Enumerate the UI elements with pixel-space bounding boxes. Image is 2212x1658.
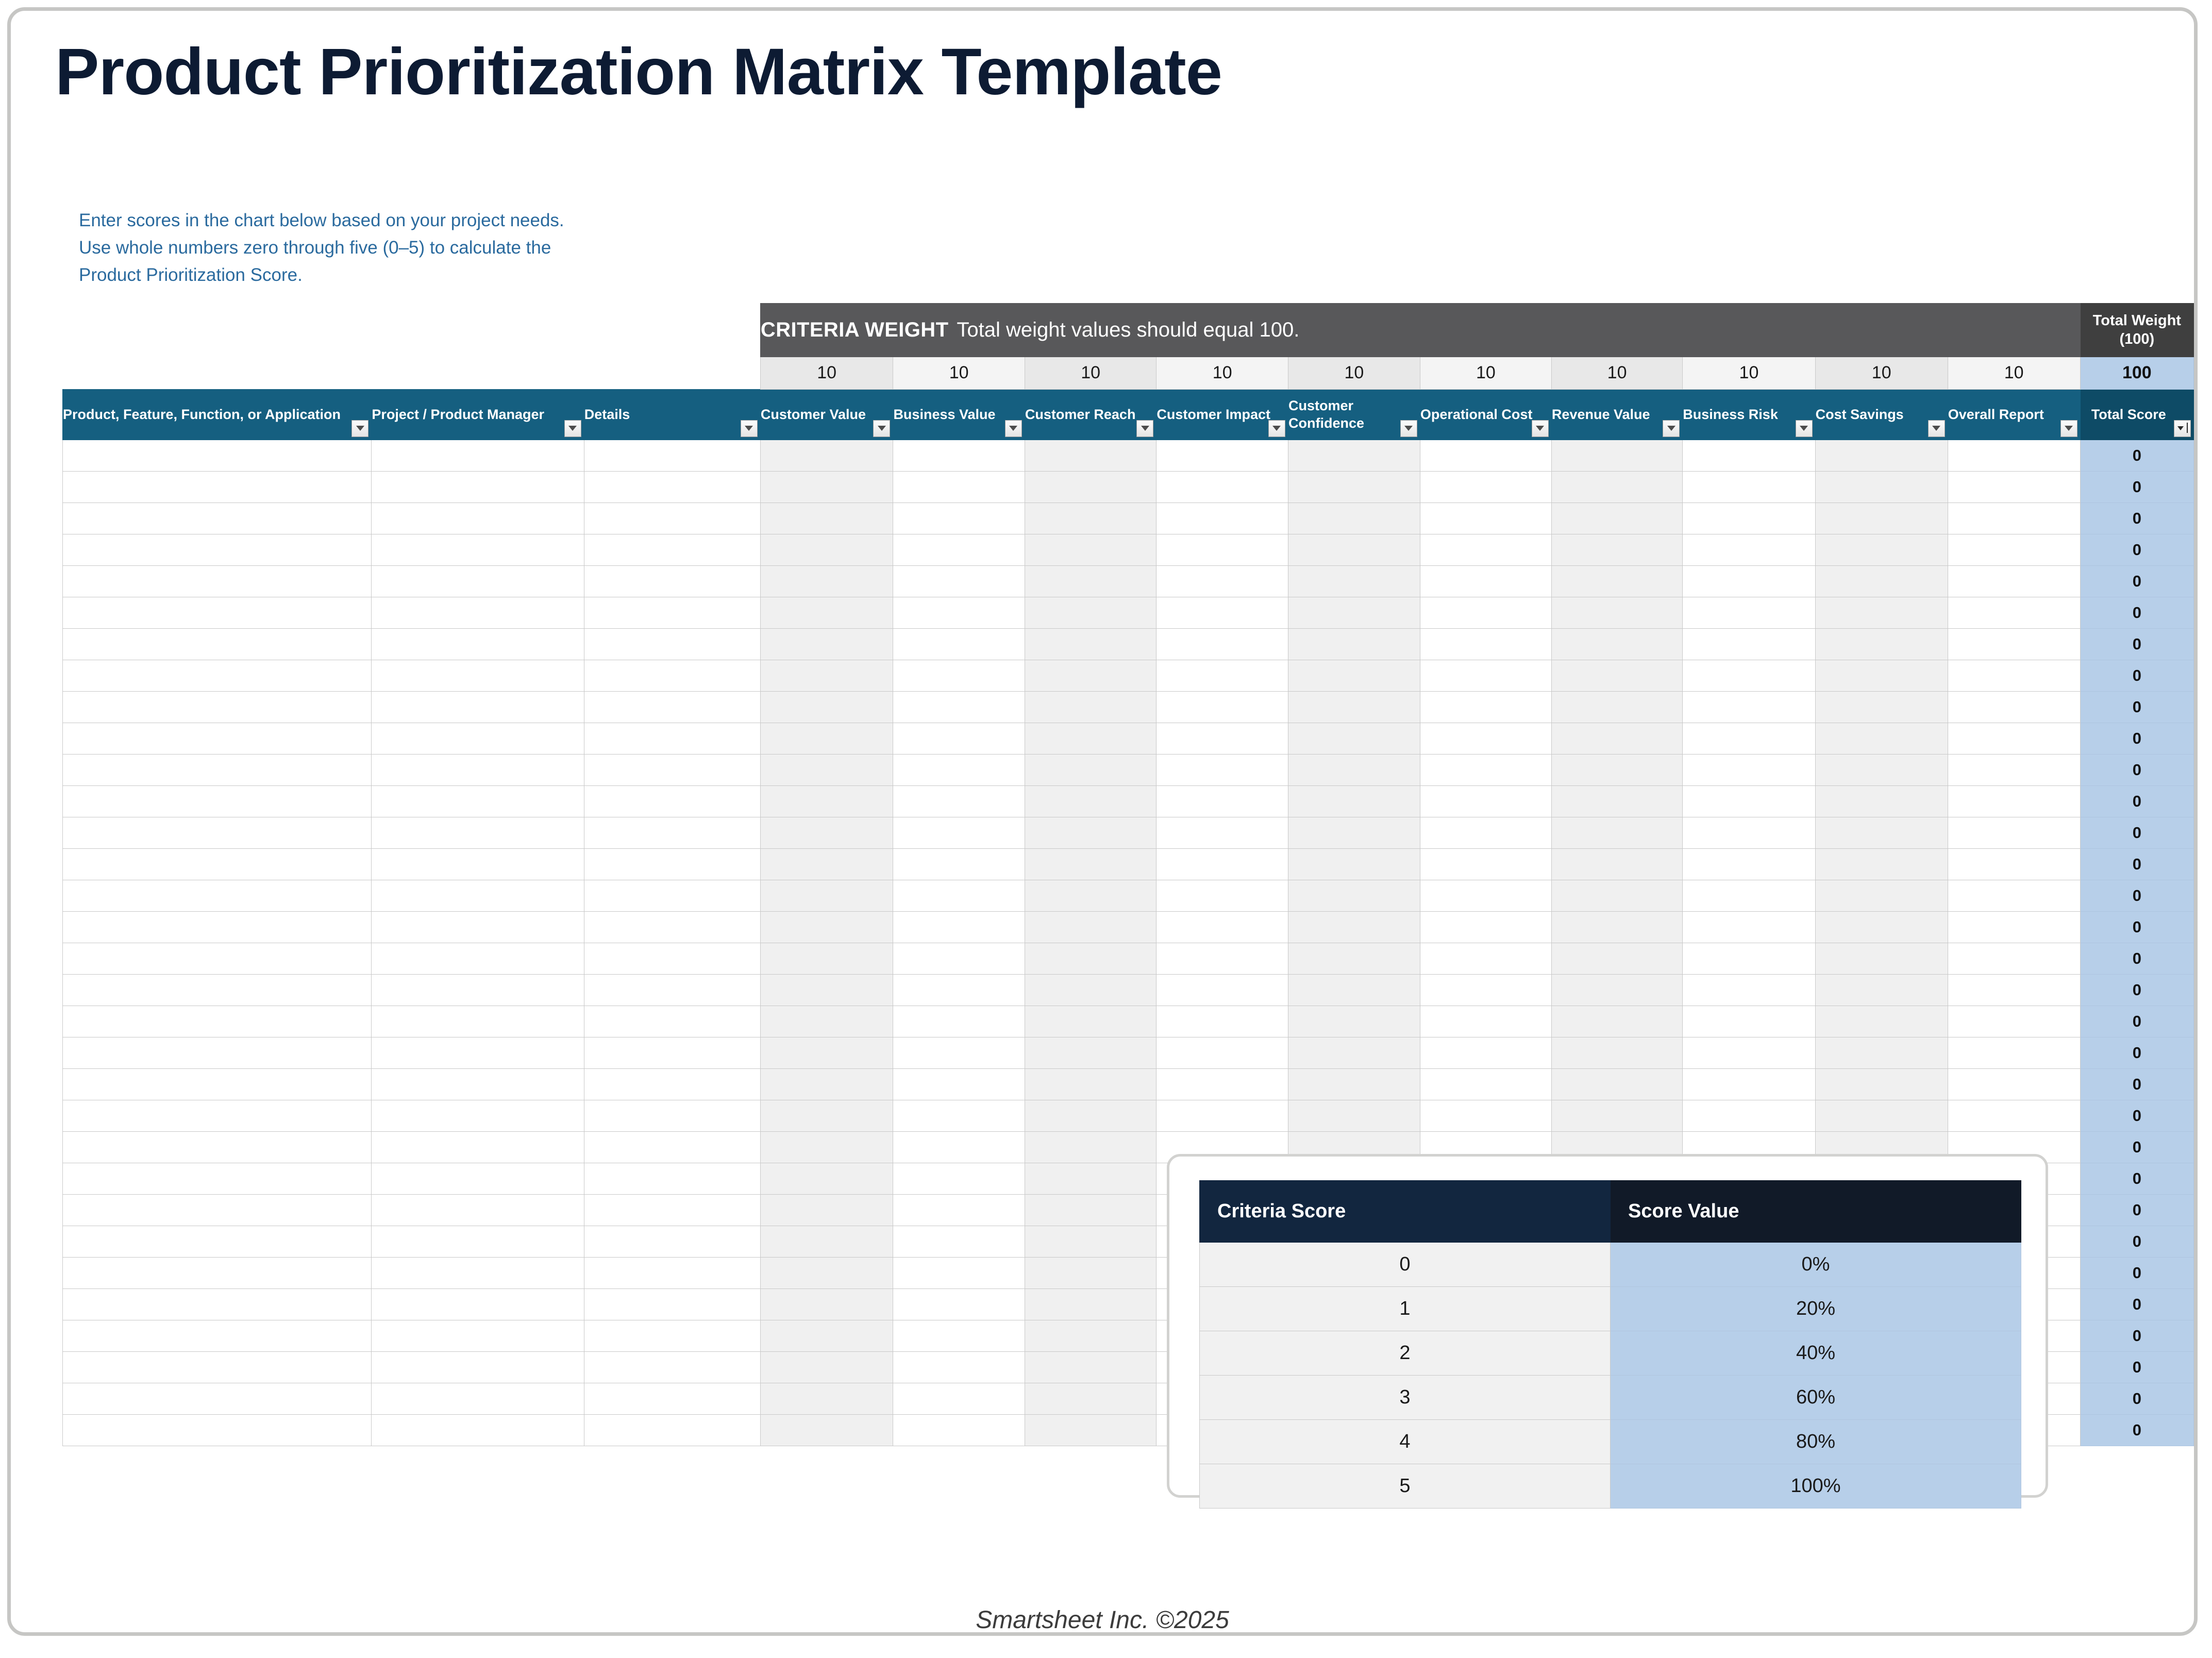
cell-project-product-manager[interactable] (372, 1257, 584, 1288)
cell-business-value[interactable] (893, 503, 1025, 534)
cell-overall-report[interactable] (1948, 817, 2080, 848)
cell-details[interactable] (584, 1320, 760, 1351)
cell-operational-cost[interactable] (1420, 817, 1551, 848)
cell-customer-confidence[interactable] (1288, 597, 1420, 628)
cell-revenue-value[interactable] (1551, 440, 1682, 471)
column-header-operational-cost[interactable]: Operational Cost (1420, 389, 1551, 440)
filter-dropdown-icon[interactable] (1928, 420, 1945, 437)
cell-overall-report[interactable] (1948, 848, 2080, 880)
cell-product-feature-function-or-application[interactable] (63, 1351, 372, 1383)
cell-business-risk[interactable] (1683, 880, 1815, 911)
cell-customer-impact[interactable] (1157, 660, 1288, 691)
cell-customer-value[interactable] (760, 754, 893, 785)
cell-business-risk[interactable] (1683, 628, 1815, 660)
cell-customer-reach[interactable] (1025, 911, 1157, 943)
cell-customer-impact[interactable] (1157, 911, 1288, 943)
cell-business-risk[interactable] (1683, 1068, 1815, 1100)
cell-product-feature-function-or-application[interactable] (63, 691, 372, 723)
cell-customer-reach[interactable] (1025, 1194, 1157, 1226)
weight-input-cost-savings[interactable]: 10 (1815, 357, 1948, 390)
cell-customer-value[interactable] (760, 565, 893, 597)
cell-customer-reach[interactable] (1025, 691, 1157, 723)
cell-customer-value[interactable] (760, 597, 893, 628)
cell-cost-savings[interactable] (1815, 660, 1948, 691)
cell-business-risk[interactable] (1683, 1037, 1815, 1068)
cell-details[interactable] (584, 1257, 760, 1288)
cell-customer-reach[interactable] (1025, 660, 1157, 691)
cell-cost-savings[interactable] (1815, 565, 1948, 597)
cell-customer-value[interactable] (760, 1257, 893, 1288)
cell-project-product-manager[interactable] (372, 1194, 584, 1226)
cell-overall-report[interactable] (1948, 754, 2080, 785)
cell-revenue-value[interactable] (1551, 628, 1682, 660)
cell-customer-impact[interactable] (1157, 440, 1288, 471)
cell-customer-impact[interactable] (1157, 785, 1288, 817)
cell-customer-reach[interactable] (1025, 1068, 1157, 1100)
cell-details[interactable] (584, 1414, 760, 1446)
cell-business-value[interactable] (893, 1351, 1025, 1383)
cell-business-value[interactable] (893, 660, 1025, 691)
cell-overall-report[interactable] (1948, 628, 2080, 660)
filter-dropdown-icon[interactable] (1268, 420, 1285, 437)
weight-input-revenue-value[interactable]: 10 (1551, 357, 1682, 390)
column-header-customer-confidence[interactable]: Customer Confidence (1288, 389, 1420, 440)
cell-overall-report[interactable] (1948, 471, 2080, 503)
cell-revenue-value[interactable] (1551, 691, 1682, 723)
cell-business-value[interactable] (893, 534, 1025, 565)
cell-project-product-manager[interactable] (372, 1414, 584, 1446)
cell-product-feature-function-or-application[interactable] (63, 911, 372, 943)
cell-project-product-manager[interactable] (372, 785, 584, 817)
cell-business-risk[interactable] (1683, 691, 1815, 723)
cell-cost-savings[interactable] (1815, 943, 1948, 974)
cell-operational-cost[interactable] (1420, 471, 1551, 503)
cell-details[interactable] (584, 1288, 760, 1320)
cell-operational-cost[interactable] (1420, 785, 1551, 817)
cell-business-value[interactable] (893, 691, 1025, 723)
cell-operational-cost[interactable] (1420, 1037, 1551, 1068)
cell-customer-value[interactable] (760, 628, 893, 660)
cell-operational-cost[interactable] (1420, 1068, 1551, 1100)
cell-project-product-manager[interactable] (372, 660, 584, 691)
cell-project-product-manager[interactable] (372, 597, 584, 628)
cell-business-value[interactable] (893, 1383, 1025, 1414)
cell-operational-cost[interactable] (1420, 1100, 1551, 1131)
cell-customer-confidence[interactable] (1288, 1006, 1420, 1037)
cell-customer-confidence[interactable] (1288, 503, 1420, 534)
cell-customer-value[interactable] (760, 1351, 893, 1383)
cell-operational-cost[interactable] (1420, 974, 1551, 1006)
cell-overall-report[interactable] (1948, 534, 2080, 565)
filter-dropdown-icon[interactable] (1136, 420, 1153, 437)
cell-customer-confidence[interactable] (1288, 1037, 1420, 1068)
cell-customer-impact[interactable] (1157, 1100, 1288, 1131)
cell-customer-reach[interactable] (1025, 785, 1157, 817)
cell-project-product-manager[interactable] (372, 974, 584, 1006)
cell-revenue-value[interactable] (1551, 1100, 1682, 1131)
filter-dropdown-icon[interactable] (1005, 420, 1022, 437)
cell-customer-value[interactable] (760, 471, 893, 503)
cell-product-feature-function-or-application[interactable] (63, 1194, 372, 1226)
cell-customer-reach[interactable] (1025, 817, 1157, 848)
cell-customer-confidence[interactable] (1288, 785, 1420, 817)
cell-details[interactable] (584, 1037, 760, 1068)
cell-customer-confidence[interactable] (1288, 848, 1420, 880)
cell-product-feature-function-or-application[interactable] (63, 817, 372, 848)
cell-customer-value[interactable] (760, 1037, 893, 1068)
cell-details[interactable] (584, 911, 760, 943)
cell-revenue-value[interactable] (1551, 1037, 1682, 1068)
cell-business-value[interactable] (893, 974, 1025, 1006)
cell-business-risk[interactable] (1683, 785, 1815, 817)
cell-cost-savings[interactable] (1815, 1006, 1948, 1037)
cell-overall-report[interactable] (1948, 1037, 2080, 1068)
cell-customer-confidence[interactable] (1288, 1068, 1420, 1100)
cell-product-feature-function-or-application[interactable] (63, 1320, 372, 1351)
column-header-project-product-manager[interactable]: Project / Product Manager (372, 389, 584, 440)
cell-customer-impact[interactable] (1157, 503, 1288, 534)
cell-customer-impact[interactable] (1157, 691, 1288, 723)
cell-customer-confidence[interactable] (1288, 817, 1420, 848)
cell-project-product-manager[interactable] (372, 691, 584, 723)
column-header-cost-savings[interactable]: Cost Savings (1815, 389, 1948, 440)
cell-business-risk[interactable] (1683, 503, 1815, 534)
cell-details[interactable] (584, 1163, 760, 1194)
cell-business-value[interactable] (893, 565, 1025, 597)
cell-customer-impact[interactable] (1157, 817, 1288, 848)
cell-operational-cost[interactable] (1420, 848, 1551, 880)
cell-customer-reach[interactable] (1025, 723, 1157, 754)
cell-customer-reach[interactable] (1025, 534, 1157, 565)
cell-customer-value[interactable] (760, 1320, 893, 1351)
cell-details[interactable] (584, 754, 760, 785)
cell-details[interactable] (584, 785, 760, 817)
cell-business-value[interactable] (893, 723, 1025, 754)
cell-customer-reach[interactable] (1025, 597, 1157, 628)
weight-input-customer-reach[interactable]: 10 (1025, 357, 1157, 390)
cell-business-value[interactable] (893, 1068, 1025, 1100)
cell-project-product-manager[interactable] (372, 1006, 584, 1037)
cell-product-feature-function-or-application[interactable] (63, 534, 372, 565)
cell-cost-savings[interactable] (1815, 848, 1948, 880)
cell-details[interactable] (584, 1383, 760, 1414)
cell-customer-impact[interactable] (1157, 943, 1288, 974)
cell-business-risk[interactable] (1683, 754, 1815, 785)
cell-revenue-value[interactable] (1551, 1006, 1682, 1037)
cell-business-risk[interactable] (1683, 1100, 1815, 1131)
cell-project-product-manager[interactable] (372, 754, 584, 785)
cell-customer-reach[interactable] (1025, 1288, 1157, 1320)
cell-product-feature-function-or-application[interactable] (63, 1383, 372, 1414)
cell-overall-report[interactable] (1948, 503, 2080, 534)
cell-project-product-manager[interactable] (372, 880, 584, 911)
filter-dropdown-icon[interactable] (351, 420, 368, 437)
cell-operational-cost[interactable] (1420, 660, 1551, 691)
cell-revenue-value[interactable] (1551, 1068, 1682, 1100)
column-header-business-value[interactable]: Business Value (893, 389, 1025, 440)
cell-revenue-value[interactable] (1551, 503, 1682, 534)
cell-customer-reach[interactable] (1025, 628, 1157, 660)
cell-business-risk[interactable] (1683, 943, 1815, 974)
cell-customer-value[interactable] (760, 880, 893, 911)
cell-product-feature-function-or-application[interactable] (63, 1100, 372, 1131)
cell-cost-savings[interactable] (1815, 880, 1948, 911)
cell-customer-confidence[interactable] (1288, 471, 1420, 503)
cell-details[interactable] (584, 440, 760, 471)
cell-customer-value[interactable] (760, 1100, 893, 1131)
cell-business-value[interactable] (893, 943, 1025, 974)
weight-input-overall-report[interactable]: 10 (1948, 357, 2080, 390)
cell-customer-confidence[interactable] (1288, 723, 1420, 754)
filter-dropdown-icon[interactable] (741, 420, 758, 437)
cell-customer-confidence[interactable] (1288, 880, 1420, 911)
cell-customer-confidence[interactable] (1288, 754, 1420, 785)
cell-cost-savings[interactable] (1815, 1068, 1948, 1100)
column-header-customer-value[interactable]: Customer Value (760, 389, 893, 440)
cell-operational-cost[interactable] (1420, 911, 1551, 943)
cell-details[interactable] (584, 817, 760, 848)
cell-cost-savings[interactable] (1815, 440, 1948, 471)
cell-customer-impact[interactable] (1157, 1006, 1288, 1037)
cell-business-value[interactable] (893, 1163, 1025, 1194)
cell-operational-cost[interactable] (1420, 754, 1551, 785)
cell-product-feature-function-or-application[interactable] (63, 660, 372, 691)
cell-cost-savings[interactable] (1815, 597, 1948, 628)
cell-product-feature-function-or-application[interactable] (63, 1006, 372, 1037)
cell-business-value[interactable] (893, 597, 1025, 628)
cell-business-value[interactable] (893, 911, 1025, 943)
cell-business-value[interactable] (893, 1100, 1025, 1131)
cell-revenue-value[interactable] (1551, 848, 1682, 880)
cell-customer-reach[interactable] (1025, 943, 1157, 974)
cell-customer-reach[interactable] (1025, 565, 1157, 597)
cell-customer-reach[interactable] (1025, 848, 1157, 880)
cell-project-product-manager[interactable] (372, 534, 584, 565)
column-header-customer-reach[interactable]: Customer Reach (1025, 389, 1157, 440)
cell-business-risk[interactable] (1683, 440, 1815, 471)
cell-details[interactable] (584, 534, 760, 565)
cell-product-feature-function-or-application[interactable] (63, 880, 372, 911)
filter-dropdown-icon[interactable] (564, 420, 581, 437)
cell-details[interactable] (584, 1194, 760, 1226)
cell-revenue-value[interactable] (1551, 911, 1682, 943)
cell-customer-value[interactable] (760, 723, 893, 754)
cell-customer-value[interactable] (760, 911, 893, 943)
cell-details[interactable] (584, 565, 760, 597)
cell-customer-value[interactable] (760, 534, 893, 565)
cell-overall-report[interactable] (1948, 660, 2080, 691)
cell-details[interactable] (584, 691, 760, 723)
cell-project-product-manager[interactable] (372, 1068, 584, 1100)
cell-project-product-manager[interactable] (372, 817, 584, 848)
cell-business-risk[interactable] (1683, 911, 1815, 943)
cell-customer-reach[interactable] (1025, 1257, 1157, 1288)
cell-cost-savings[interactable] (1815, 534, 1948, 565)
cell-business-value[interactable] (893, 1131, 1025, 1163)
cell-customer-reach[interactable] (1025, 1163, 1157, 1194)
cell-customer-value[interactable] (760, 848, 893, 880)
column-header-product-feature-function-or-application[interactable]: Product, Feature, Function, or Applicati… (63, 389, 372, 440)
column-header-business-risk[interactable]: Business Risk (1683, 389, 1815, 440)
cell-business-value[interactable] (893, 1037, 1025, 1068)
cell-business-value[interactable] (893, 1226, 1025, 1257)
cell-cost-savings[interactable] (1815, 754, 1948, 785)
filter-dropdown-icon[interactable] (1400, 420, 1417, 437)
cell-customer-value[interactable] (760, 785, 893, 817)
cell-customer-confidence[interactable] (1288, 1100, 1420, 1131)
cell-product-feature-function-or-application[interactable] (63, 785, 372, 817)
cell-product-feature-function-or-application[interactable] (63, 440, 372, 471)
column-header-customer-impact[interactable]: Customer Impact (1157, 389, 1288, 440)
cell-project-product-manager[interactable] (372, 1351, 584, 1383)
cell-cost-savings[interactable] (1815, 1037, 1948, 1068)
cell-project-product-manager[interactable] (372, 471, 584, 503)
cell-customer-impact[interactable] (1157, 754, 1288, 785)
cell-project-product-manager[interactable] (372, 440, 584, 471)
cell-customer-confidence[interactable] (1288, 691, 1420, 723)
cell-operational-cost[interactable] (1420, 691, 1551, 723)
weight-input-customer-impact[interactable]: 10 (1157, 357, 1288, 390)
cell-project-product-manager[interactable] (372, 565, 584, 597)
cell-cost-savings[interactable] (1815, 691, 1948, 723)
weight-input-operational-cost[interactable]: 10 (1420, 357, 1551, 390)
cell-product-feature-function-or-application[interactable] (63, 1068, 372, 1100)
cell-details[interactable] (584, 660, 760, 691)
cell-customer-reach[interactable] (1025, 880, 1157, 911)
cell-revenue-value[interactable] (1551, 974, 1682, 1006)
cell-details[interactable] (584, 848, 760, 880)
cell-customer-value[interactable] (760, 1006, 893, 1037)
weight-input-customer-confidence[interactable]: 10 (1288, 357, 1420, 390)
cell-revenue-value[interactable] (1551, 660, 1682, 691)
cell-product-feature-function-or-application[interactable] (63, 754, 372, 785)
cell-customer-value[interactable] (760, 1288, 893, 1320)
cell-cost-savings[interactable] (1815, 1100, 1948, 1131)
cell-details[interactable] (584, 1068, 760, 1100)
cell-product-feature-function-or-application[interactable] (63, 1288, 372, 1320)
cell-cost-savings[interactable] (1815, 785, 1948, 817)
filter-dropdown-icon[interactable] (873, 420, 890, 437)
cell-customer-reach[interactable] (1025, 440, 1157, 471)
cell-revenue-value[interactable] (1551, 534, 1682, 565)
cell-customer-impact[interactable] (1157, 597, 1288, 628)
cell-operational-cost[interactable] (1420, 943, 1551, 974)
cell-customer-impact[interactable] (1157, 565, 1288, 597)
cell-operational-cost[interactable] (1420, 565, 1551, 597)
cell-cost-savings[interactable] (1815, 723, 1948, 754)
cell-revenue-value[interactable] (1551, 597, 1682, 628)
cell-project-product-manager[interactable] (372, 1037, 584, 1068)
cell-product-feature-function-or-application[interactable] (63, 723, 372, 754)
column-header-details[interactable]: Details (584, 389, 760, 440)
cell-business-value[interactable] (893, 1257, 1025, 1288)
cell-project-product-manager[interactable] (372, 1288, 584, 1320)
cell-customer-impact[interactable] (1157, 534, 1288, 565)
cell-project-product-manager[interactable] (372, 943, 584, 974)
cell-business-value[interactable] (893, 628, 1025, 660)
cell-customer-reach[interactable] (1025, 974, 1157, 1006)
cell-details[interactable] (584, 723, 760, 754)
cell-business-value[interactable] (893, 1288, 1025, 1320)
cell-overall-report[interactable] (1948, 785, 2080, 817)
cell-details[interactable] (584, 1351, 760, 1383)
cell-customer-impact[interactable] (1157, 848, 1288, 880)
cell-project-product-manager[interactable] (372, 1320, 584, 1351)
cell-business-risk[interactable] (1683, 597, 1815, 628)
cell-revenue-value[interactable] (1551, 471, 1682, 503)
cell-customer-value[interactable] (760, 1131, 893, 1163)
cell-business-value[interactable] (893, 785, 1025, 817)
cell-operational-cost[interactable] (1420, 503, 1551, 534)
cell-overall-report[interactable] (1948, 440, 2080, 471)
cell-details[interactable] (584, 943, 760, 974)
cell-overall-report[interactable] (1948, 880, 2080, 911)
cell-product-feature-function-or-application[interactable] (63, 565, 372, 597)
cell-business-risk[interactable] (1683, 660, 1815, 691)
cell-operational-cost[interactable] (1420, 880, 1551, 911)
cell-product-feature-function-or-application[interactable] (63, 471, 372, 503)
cell-overall-report[interactable] (1948, 1100, 2080, 1131)
cell-business-risk[interactable] (1683, 848, 1815, 880)
cell-details[interactable] (584, 1226, 760, 1257)
cell-customer-value[interactable] (760, 503, 893, 534)
cell-business-risk[interactable] (1683, 817, 1815, 848)
cell-business-risk[interactable] (1683, 565, 1815, 597)
weight-input-business-value[interactable]: 10 (893, 357, 1025, 390)
cell-revenue-value[interactable] (1551, 880, 1682, 911)
cell-project-product-manager[interactable] (372, 1163, 584, 1194)
cell-product-feature-function-or-application[interactable] (63, 1163, 372, 1194)
cell-customer-reach[interactable] (1025, 1037, 1157, 1068)
cell-customer-impact[interactable] (1157, 1068, 1288, 1100)
cell-business-risk[interactable] (1683, 471, 1815, 503)
cell-customer-value[interactable] (760, 1383, 893, 1414)
cell-customer-value[interactable] (760, 1068, 893, 1100)
filter-dropdown-icon[interactable] (1796, 420, 1813, 437)
cell-operational-cost[interactable] (1420, 1006, 1551, 1037)
cell-customer-reach[interactable] (1025, 1226, 1157, 1257)
cell-customer-value[interactable] (760, 1414, 893, 1446)
column-header-total-score[interactable]: Total Score (2080, 389, 2193, 440)
cell-customer-reach[interactable] (1025, 1100, 1157, 1131)
cell-product-feature-function-or-application[interactable] (63, 1414, 372, 1446)
cell-business-risk[interactable] (1683, 974, 1815, 1006)
cell-revenue-value[interactable] (1551, 817, 1682, 848)
cell-customer-reach[interactable] (1025, 1006, 1157, 1037)
cell-customer-value[interactable] (760, 440, 893, 471)
cell-product-feature-function-or-application[interactable] (63, 848, 372, 880)
cell-business-risk[interactable] (1683, 1006, 1815, 1037)
cell-project-product-manager[interactable] (372, 911, 584, 943)
cell-overall-report[interactable] (1948, 723, 2080, 754)
cell-customer-confidence[interactable] (1288, 628, 1420, 660)
cell-business-value[interactable] (893, 1414, 1025, 1446)
cell-product-feature-function-or-application[interactable] (63, 1037, 372, 1068)
cell-project-product-manager[interactable] (372, 723, 584, 754)
cell-business-value[interactable] (893, 817, 1025, 848)
cell-details[interactable] (584, 597, 760, 628)
cell-details[interactable] (584, 1100, 760, 1131)
cell-customer-value[interactable] (760, 943, 893, 974)
cell-business-risk[interactable] (1683, 723, 1815, 754)
cell-overall-report[interactable] (1948, 1006, 2080, 1037)
cell-business-value[interactable] (893, 440, 1025, 471)
cell-product-feature-function-or-application[interactable] (63, 974, 372, 1006)
cell-customer-value[interactable] (760, 817, 893, 848)
cell-cost-savings[interactable] (1815, 471, 1948, 503)
cell-project-product-manager[interactable] (372, 1226, 584, 1257)
cell-customer-confidence[interactable] (1288, 660, 1420, 691)
